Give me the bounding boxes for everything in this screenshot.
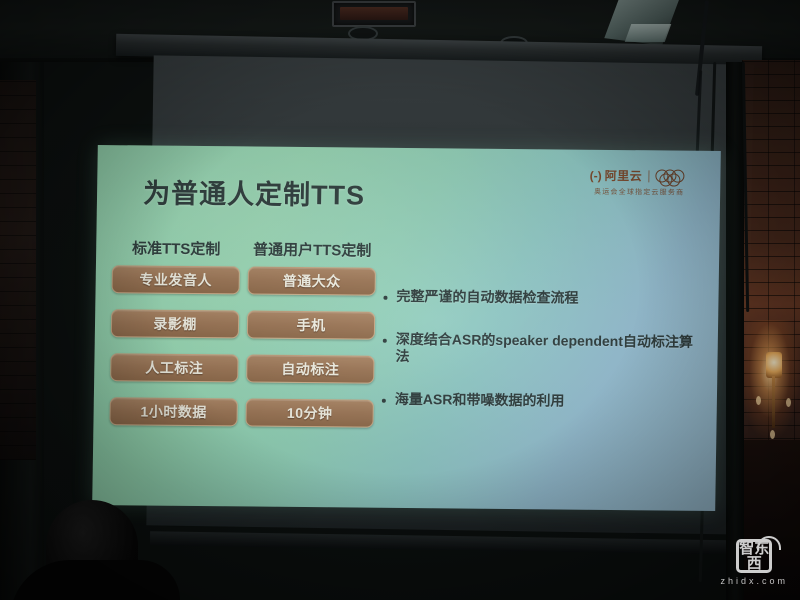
pill-item: 人工标注: [110, 353, 238, 382]
pill-item: 自动标注: [246, 354, 374, 383]
left-brick-wall: [0, 80, 36, 460]
bullet-list: 完整严谨的自动数据检查流程 深度结合ASR的speaker dependent自…: [381, 288, 703, 436]
column-standard: 专业发音人 录影棚 人工标注 1小时数据: [109, 265, 240, 426]
pill-item: 1小时数据: [109, 397, 237, 426]
bullet-item: 完整严谨的自动数据检查流程: [383, 288, 703, 309]
watermark-glyph-box: 智东西: [736, 539, 772, 573]
sconce-crystal: [786, 398, 791, 407]
column-header-consumer: 普通用户TTS定制: [248, 238, 376, 260]
ceiling-vent-panel: [625, 24, 672, 42]
column-consumer: 普通大众 手机 自动标注 10分钟: [245, 266, 376, 427]
sconce-crystal: [770, 430, 775, 439]
bullet-dot-icon: [383, 296, 387, 300]
zhidx-logo-icon: 智东西: [720, 539, 788, 573]
conference-room-photo: 为普通人定制TTS (-) 阿里云 奥运会全球指定云服务商 标准TTS定制 普通…: [0, 0, 800, 600]
bullet-text: 深度结合ASR的speaker dependent自动标注算法: [395, 330, 703, 368]
bullet-item: 深度结合ASR的speaker dependent自动标注算法: [382, 330, 703, 368]
column-headers: 标准TTS定制 普通用户TTS定制: [112, 237, 376, 261]
pill-item: 专业发音人: [112, 265, 240, 294]
watermark-url: zhidx.com: [720, 576, 788, 586]
watermark: 智东西 zhidx.com: [720, 539, 788, 586]
bullet-item: 海量ASR和带噪数据的利用: [382, 390, 702, 411]
right-door-frame: [726, 62, 744, 600]
logo-bracket: (-): [590, 170, 602, 182]
pill-item: 10分钟: [245, 398, 373, 427]
comparison-columns: 专业发音人 录影棚 人工标注 1小时数据 普通大众 手机 自动标注 10分钟: [109, 265, 376, 428]
olympic-rings-icon: [655, 169, 689, 183]
bullet-dot-icon: [383, 338, 387, 342]
alibaba-cloud-logo-icon: (-) 阿里云: [590, 170, 643, 183]
wall-sconce-lamp-icon: [766, 352, 782, 378]
bullet-text: 海量ASR和带噪数据的利用: [395, 390, 565, 409]
bullet-text: 完整严谨的自动数据检查流程: [396, 288, 578, 307]
bullet-dot-icon: [382, 398, 386, 402]
pill-item: 手机: [247, 310, 375, 339]
column-header-standard: 标准TTS定制: [112, 237, 240, 259]
presentation-slide: 为普通人定制TTS (-) 阿里云 奥运会全球指定云服务商 标准TTS定制 普通…: [92, 145, 721, 511]
alibaba-cloud-brand-lockup: (-) 阿里云 奥运会全球指定云服务商: [574, 168, 704, 198]
pill-item: 普通大众: [248, 266, 376, 295]
sconce-crystal: [756, 396, 761, 405]
brand-name: 阿里云: [605, 170, 643, 182]
pill-item: 录影棚: [111, 309, 239, 338]
slide-title: 为普通人定制TTS: [143, 171, 366, 212]
ceiling-light-fixture-icon: [332, 1, 416, 27]
wall-sconce-arm: [772, 376, 775, 428]
brand-subtitle: 奥运会全球指定云服务商: [574, 187, 704, 198]
brand-divider: [648, 170, 649, 182]
wifi-arc-icon: [757, 536, 781, 550]
